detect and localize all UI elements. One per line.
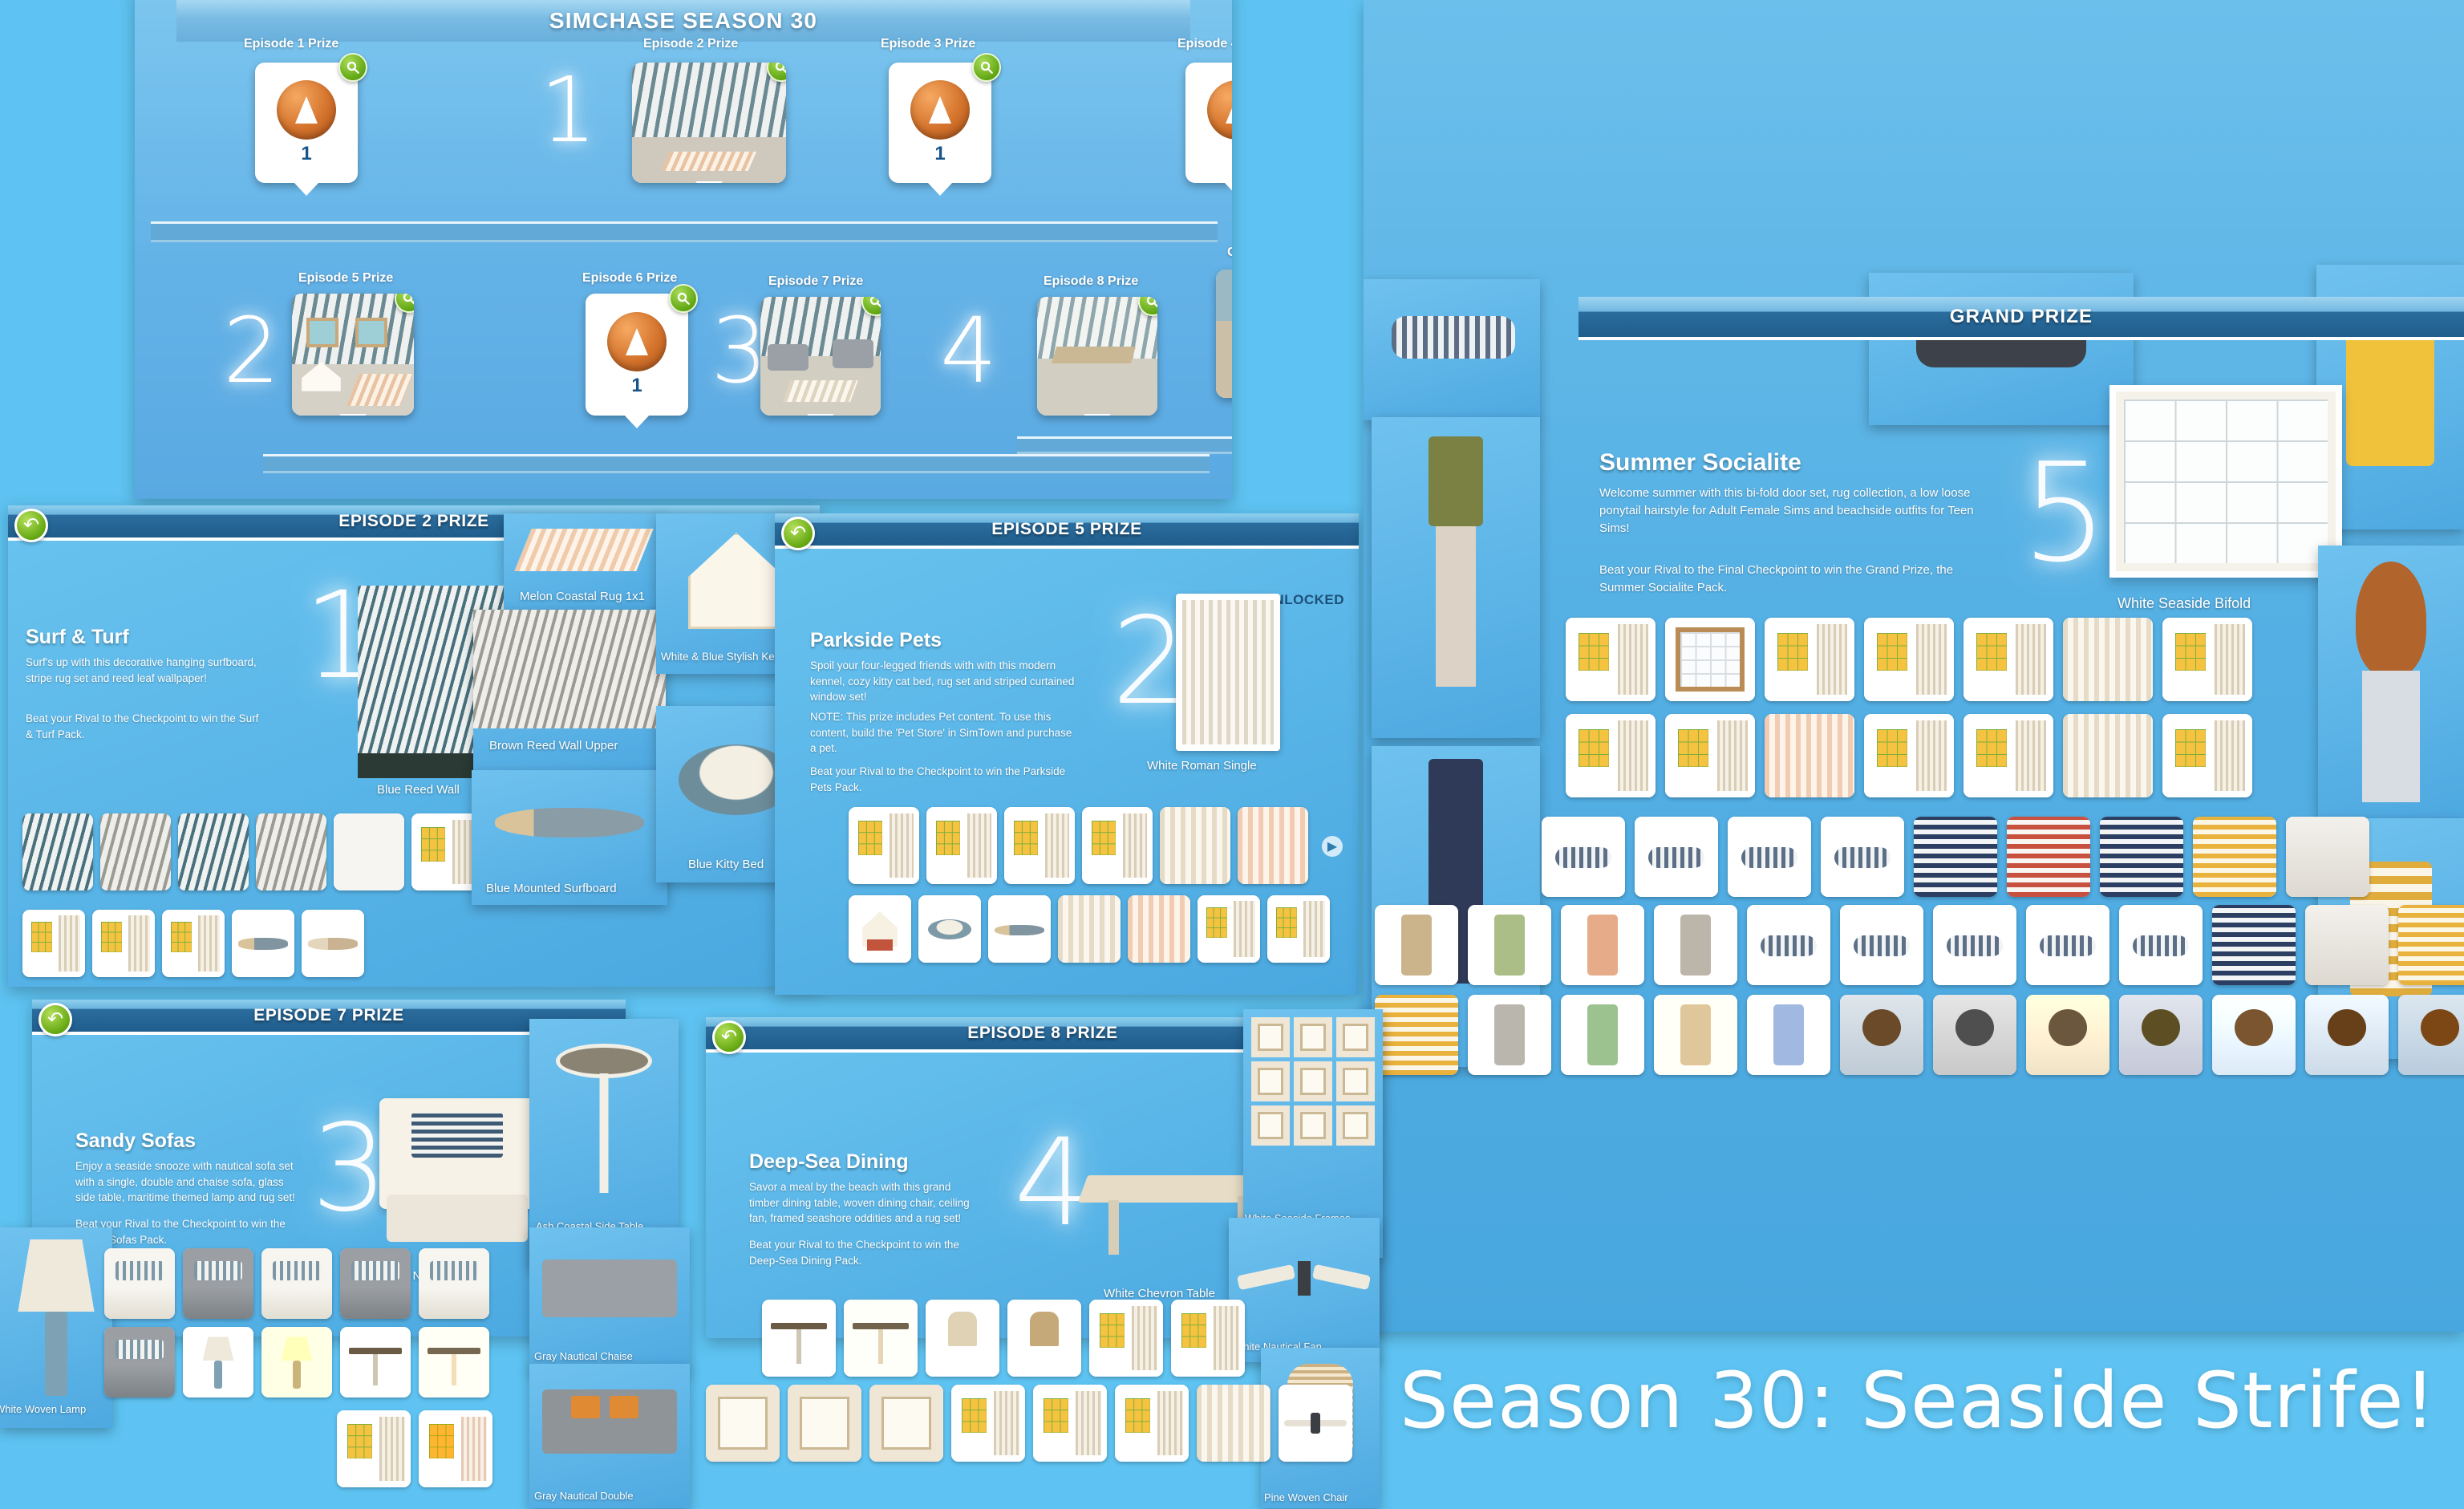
chip-head-a[interactable]: [1840, 995, 1923, 1075]
chip-win-c[interactable]: [162, 910, 225, 977]
prize-coin-icon: [1207, 80, 1232, 140]
chip-reed-gray[interactable]: [100, 813, 171, 890]
episode-7-label: Episode 7 Prize: [768, 274, 863, 289]
panel-title: EPISODE 8 PRIZE: [967, 1024, 1118, 1043]
prize-coin-icon: [277, 80, 336, 140]
search-icon[interactable]: [669, 284, 698, 313]
episode-1-label: Episode 1 Prize: [244, 37, 338, 51]
chip-shoe-g[interactable]: [1933, 905, 2016, 985]
chip-outfit-c[interactable]: [1561, 995, 1644, 1075]
episode-1-prize-card[interactable]: 1: [255, 63, 358, 183]
episode-7-prize-card[interactable]: [760, 297, 881, 416]
chip-pant-d[interactable]: [1654, 905, 1737, 985]
timeline-row-2: 2 Episode 5 Prize Episode 6 Prize 1: [135, 254, 1232, 494]
simchase-season-board: SIMCHASE SEASON 30 Episode 1 Prize 1 1 E…: [135, 0, 1232, 499]
caption-blue-kitty-bed: Blue Kitty Bed: [688, 858, 764, 871]
chip-outfit-b[interactable]: [1468, 995, 1551, 1075]
ep7-chip-row-2: [104, 1327, 489, 1397]
chip-shoe-f[interactable]: [1840, 905, 1923, 985]
chip-curtain-ep8-e[interactable]: [1115, 1385, 1189, 1462]
chip-curtain-ep8-c[interactable]: [951, 1385, 1025, 1462]
episode-5-label: Episode 5 Prize: [298, 271, 393, 286]
chip-win-a[interactable]: [22, 910, 85, 977]
white-seaside-bifold-art: [2109, 385, 2342, 578]
checkpoint-number-2: 2: [223, 306, 280, 396]
chip-pant-b[interactable]: [1468, 905, 1551, 985]
ep7-chip-row-3: [337, 1410, 492, 1487]
chip-shoe-i[interactable]: [2119, 905, 2203, 985]
checkpoint-number-4: 4: [940, 306, 997, 396]
chip-tee-plain[interactable]: [2286, 817, 2369, 897]
chip-head-b[interactable]: [1933, 995, 2016, 1075]
pack-name: Surf & Turf: [26, 626, 129, 649]
chip-sofa-gray-single[interactable]: [183, 1248, 253, 1319]
chip-table-a[interactable]: [762, 1300, 836, 1377]
brown-reed-wall-thumb: Brown Reed Wall Upper: [473, 610, 666, 770]
timeline-track-2: [263, 454, 1210, 473]
episode-4-label: Episode 4 Prize: [1177, 37, 1232, 51]
chip-curtain-f[interactable]: [1238, 807, 1308, 884]
item-chip-row-2: [849, 895, 1330, 963]
heads-chip-row: [1375, 995, 2464, 1075]
chip-tee-navy[interactable]: [1914, 817, 1997, 897]
card-tail: [807, 414, 834, 416]
prize-coin-icon: [910, 80, 970, 140]
chip-outfit-d[interactable]: [1654, 995, 1737, 1075]
season-title: Season 30: Seaside Strife!: [1400, 1356, 2436, 1446]
chip-sofa-white-double[interactable]: [261, 1248, 332, 1319]
episode-6-coin-value: 1: [631, 375, 642, 397]
chip-frames-b[interactable]: [788, 1385, 861, 1462]
chip-bifold-l[interactable]: [1963, 714, 2053, 797]
chip-curtain-d[interactable]: [1082, 807, 1153, 884]
striped-sandal-thumb: [1364, 279, 1540, 420]
panel-title: EPISODE 2 PRIZE: [338, 512, 489, 531]
chip-curtain-b[interactable]: [926, 807, 997, 884]
chip-rug-melon[interactable]: [1128, 895, 1190, 963]
chip-kennel[interactable]: [849, 895, 911, 963]
episode-2-prize-card[interactable]: [632, 63, 786, 183]
episode-5-prize-panel: ↶ EPISODE 5 PRIZE UNLOCKED Parkside Pets…: [775, 513, 1359, 995]
caption-white-woven-lamp: White Woven Lamp: [0, 1403, 86, 1415]
grand-prize-title: GRAND PRIZE: [1950, 306, 2093, 328]
chip-side-table-white[interactable]: [340, 1327, 411, 1397]
grand-pack-description: Welcome summer with this bi-fold door se…: [1599, 485, 1976, 537]
pack-unlock-hint: Beat your Rival to the Checkpoint to win…: [810, 764, 1075, 795]
pack-name: Sandy Sofas: [75, 1130, 196, 1153]
chip-tee-red[interactable]: [2007, 817, 2090, 897]
chip-curtain-e[interactable]: [1160, 807, 1230, 884]
timeline-track-1: [151, 221, 1218, 242]
white-roman-single-preview: [1176, 594, 1280, 751]
chip-surfboard-a[interactable]: [232, 910, 294, 977]
panel-body: UNLOCKED Parkside Pets Spoil your four-l…: [775, 549, 1359, 995]
chip-head-d[interactable]: [2119, 995, 2203, 1075]
back-arrow-icon[interactable]: ↶: [712, 1020, 746, 1054]
chip-next-arrow[interactable]: ▶: [1322, 836, 1343, 857]
chip-win-b[interactable]: [92, 910, 155, 977]
grand-pack-unlock-hint: Beat your Rival to the Final Checkpoint …: [1599, 562, 1976, 597]
caption-gray-nautical-chaise: Gray Nautical Chaise: [534, 1350, 633, 1362]
chip-frames-a[interactable]: [706, 1385, 780, 1462]
grand-prize-body: GRAND PRIZE Summer Socialite Welcome sum…: [1364, 0, 2464, 1332]
episode-5-prize-card[interactable]: [292, 294, 414, 416]
ep8-chip-row-1: [762, 1300, 1245, 1377]
chip-bifold-white[interactable]: [1566, 618, 1655, 701]
card-tail: [695, 181, 723, 183]
chip-sofa-gray-chaise[interactable]: [104, 1327, 175, 1397]
chip-shoe-e[interactable]: [1747, 905, 1830, 985]
pack-note: NOTE: This prize includes Pet content. T…: [810, 709, 1075, 757]
chip-rug-ep8[interactable]: [1197, 1385, 1270, 1462]
item-chip-row-1: [849, 807, 1308, 884]
blue-surfboard-thumb: Blue Mounted Surfboard: [472, 770, 667, 905]
chip-sandal-d[interactable]: [1821, 817, 1904, 897]
pack-description: Enjoy a seaside snooze with nautical sof…: [75, 1158, 300, 1206]
chip-head-g[interactable]: [2398, 995, 2464, 1075]
card-tail: [1084, 414, 1111, 416]
chip-tee-navy-2[interactable]: [2100, 817, 2183, 897]
grand-prize-label: Grand Prize: [1227, 245, 1232, 260]
chip-shoe-h[interactable]: [2026, 905, 2109, 985]
ep7-chip-row-1: [104, 1248, 489, 1319]
shoe-chip-row: [1542, 817, 2369, 897]
pack-unlock-hint: Beat your Rival to the Checkpoint to win…: [749, 1237, 982, 1268]
episode-1-coin-value: 1: [301, 143, 311, 165]
caption-white-chevron-table: White Chevron Table: [1104, 1287, 1215, 1300]
chip-curtain-a[interactable]: [849, 807, 919, 884]
chip-curtain-ep8-b[interactable]: [1171, 1300, 1245, 1377]
back-arrow-icon[interactable]: ↶: [14, 509, 48, 542]
episode-3-label: Episode 3 Prize: [881, 37, 975, 51]
card-tail: [293, 181, 320, 196]
caption-pine-woven-chair: Pine Woven Chair: [1264, 1491, 1348, 1503]
search-icon[interactable]: [338, 53, 367, 82]
melon-coastal-rug-thumb: Melon Coastal Rug 1x1: [504, 513, 664, 610]
pack-name: Deep-Sea Dining: [749, 1150, 909, 1174]
chip-sofa-white-single[interactable]: [104, 1248, 175, 1319]
chip-tee-yellow[interactable]: [2193, 817, 2276, 897]
chip-curtain-melon[interactable]: [419, 1410, 492, 1487]
black-sandal-thumb: [1869, 273, 2134, 425]
chip-reed-blue-2[interactable]: [178, 813, 249, 890]
episode-8-label: Episode 8 Prize: [1044, 274, 1138, 289]
chip-head-e[interactable]: [2212, 995, 2296, 1075]
chip-bifold-e[interactable]: [1963, 618, 2053, 701]
pack-description: Savor a meal by the beach with this gran…: [749, 1179, 982, 1227]
chip-sandal-a[interactable]: [1542, 817, 1625, 897]
chip-cat-bed[interactable]: [918, 895, 981, 963]
chip-bifold-i[interactable]: [1665, 714, 1755, 797]
chip-bifold-f[interactable]: [2063, 618, 2153, 701]
chip-bifold-oak[interactable]: [1665, 618, 1755, 701]
gray-nautical-double-thumb: Gray Nautical Double: [529, 1364, 690, 1508]
chip-bifold-n[interactable]: [2162, 714, 2252, 797]
card-tail: [1223, 181, 1232, 196]
back-arrow-icon[interactable]: ↶: [38, 1003, 72, 1036]
pack-description: Surf's up with this decorative hanging s…: [26, 655, 266, 686]
chip-bifold-k[interactable]: [1864, 714, 1954, 797]
episode-4-prize-card[interactable]: 1: [1185, 63, 1232, 183]
white-woven-lamp-thumb: White Woven Lamp: [0, 1227, 112, 1428]
chip-pant-a[interactable]: [1375, 905, 1458, 985]
screenshot-root: SIMCHASE SEASON 30 Episode 1 Prize 1 1 E…: [0, 0, 2464, 1509]
chip-curtain-c[interactable]: [1004, 807, 1075, 884]
chip-lamp-copper[interactable]: [261, 1327, 332, 1397]
chip-bifold-h[interactable]: [1566, 714, 1655, 797]
episode-6-prize-card[interactable]: 1: [586, 294, 688, 416]
chip-plain-wall[interactable]: [334, 813, 404, 890]
chip-sofa-white-chaise[interactable]: [419, 1248, 489, 1319]
back-arrow-icon[interactable]: ↶: [781, 517, 815, 550]
pack-name: Parkside Pets: [810, 629, 942, 652]
episode-3-prize-card[interactable]: 1: [889, 63, 991, 183]
chip-sandal-c[interactable]: [1728, 817, 1811, 897]
teen-shorts-sim: [1372, 417, 1540, 738]
card-tail: [623, 414, 650, 428]
chip-top-j[interactable]: [2212, 905, 2296, 985]
panel-header: ↶ EPISODE 5 PRIZE: [775, 513, 1359, 549]
chip-chair-a[interactable]: [926, 1300, 999, 1377]
timeline-track-2b: [1017, 436, 1232, 454]
prize-coin-icon: [607, 312, 667, 371]
chip-lamp-white[interactable]: [183, 1327, 253, 1397]
caption-brown-reed-wall-upper: Brown Reed Wall Upper: [489, 739, 618, 752]
adult-ponytail-sim: [2318, 546, 2464, 818]
chip-frames-c[interactable]: [869, 1385, 943, 1462]
chip-side-table-wood[interactable]: [419, 1327, 489, 1397]
chip-bifold-g[interactable]: [2162, 618, 2252, 701]
chip-surfboard[interactable]: [988, 895, 1051, 963]
caption-blue-mounted-surfboard: Blue Mounted Surfboard: [486, 882, 617, 895]
chip-chair-b[interactable]: [1007, 1300, 1081, 1377]
chip-reed-blue[interactable]: [22, 813, 93, 890]
chip-top-l[interactable]: [2398, 905, 2464, 985]
grand-prize-card[interactable]: [1216, 270, 1232, 398]
timeline-row-1: Episode 1 Prize 1 1 Episode 2 Prize Epis: [135, 0, 1232, 245]
bifold-chip-row-1: [1566, 618, 2252, 701]
chip-bifold-j[interactable]: [1765, 714, 1854, 797]
chip-head-f[interactable]: [2305, 995, 2389, 1075]
chip-table-b[interactable]: [844, 1300, 918, 1377]
checkpoint-number-3: 3: [711, 306, 768, 396]
search-icon[interactable]: [972, 53, 1001, 82]
chip-win-y[interactable]: [1198, 895, 1260, 963]
episode-8-prize-card[interactable]: [1037, 297, 1157, 416]
chip-top-k[interactable]: [2305, 905, 2389, 985]
caption-white-seaside-bifold: White Seaside Bifold: [2117, 595, 2251, 612]
episode-4-coin-value: 1: [1231, 143, 1232, 165]
panel-title: EPISODE 5 PRIZE: [991, 520, 1142, 539]
panel-title: EPISODE 7 PRIZE: [253, 1006, 404, 1025]
caption-white-roman-single: White Roman Single: [1147, 759, 1257, 773]
white-nautical-fan-thumb: White Nautical Fan: [1229, 1218, 1380, 1362]
chip-sandal-b[interactable]: [1635, 817, 1718, 897]
card-tail: [339, 414, 367, 416]
pants-chip-row: [1375, 905, 2464, 985]
grand-prize-section: GRAND PRIZE Summer Socialite Welcome sum…: [1364, 0, 2464, 1332]
episode-2-label: Episode 2 Prize: [643, 37, 738, 51]
chip-curtain-ep8-d[interactable]: [1033, 1385, 1107, 1462]
ep8-chip-row-2: [706, 1385, 1352, 1462]
chip-sofa-gray-double[interactable]: [340, 1248, 411, 1319]
caption-blue-reed-wall: Blue Reed Wall: [377, 783, 460, 797]
card-tail: [926, 181, 954, 196]
chip-head-c[interactable]: [2026, 995, 2109, 1075]
white-nautical-sofa-art: [369, 1080, 545, 1264]
grand-prize-header: GRAND PRIZE: [1578, 297, 2464, 340]
item-chip-row-1: [22, 813, 482, 890]
gray-nautical-chaise-thumb: Gray Nautical Chaise: [529, 1227, 690, 1372]
pack-unlock-hint: Beat your Rival to the Checkpoint to win…: [26, 711, 266, 742]
episode-3-coin-value: 1: [934, 143, 945, 165]
chip-bifold-m[interactable]: [2063, 714, 2153, 797]
chip-curtain-cream[interactable]: [337, 1410, 411, 1487]
chip-curtain-ep8-a[interactable]: [1089, 1300, 1163, 1377]
grand-prize-number: 5: [2021, 456, 2108, 572]
chip-bifold-c[interactable]: [1765, 618, 1854, 701]
caption-gray-nautical-double: Gray Nautical Double: [534, 1490, 634, 1502]
chip-bifold-d[interactable]: [1864, 618, 1954, 701]
caption-melon-coastal-rug: Melon Coastal Rug 1x1: [520, 590, 645, 603]
chip-pant-c[interactable]: [1561, 905, 1644, 985]
chip-win-z[interactable]: [1267, 895, 1330, 963]
chip-reed-gray-2[interactable]: [256, 813, 326, 890]
bifold-chip-row-2: [1566, 714, 2252, 797]
chip-fan-ep8[interactable]: [1279, 1385, 1352, 1462]
chip-surfboard-b[interactable]: [302, 910, 364, 977]
chip-outfit-e[interactable]: [1747, 995, 1830, 1075]
episode-6-label: Episode 6 Prize: [582, 271, 677, 286]
item-chip-row-2: [22, 910, 364, 977]
chip-rug-cream[interactable]: [1058, 895, 1121, 963]
chip-outfit-a[interactable]: [1375, 995, 1458, 1075]
checkpoint-number-1: 1: [540, 66, 597, 156]
pack-description: Spoil your four-legged friends with with…: [810, 658, 1075, 705]
grand-pack-name: Summer Socialite: [1599, 449, 1801, 477]
